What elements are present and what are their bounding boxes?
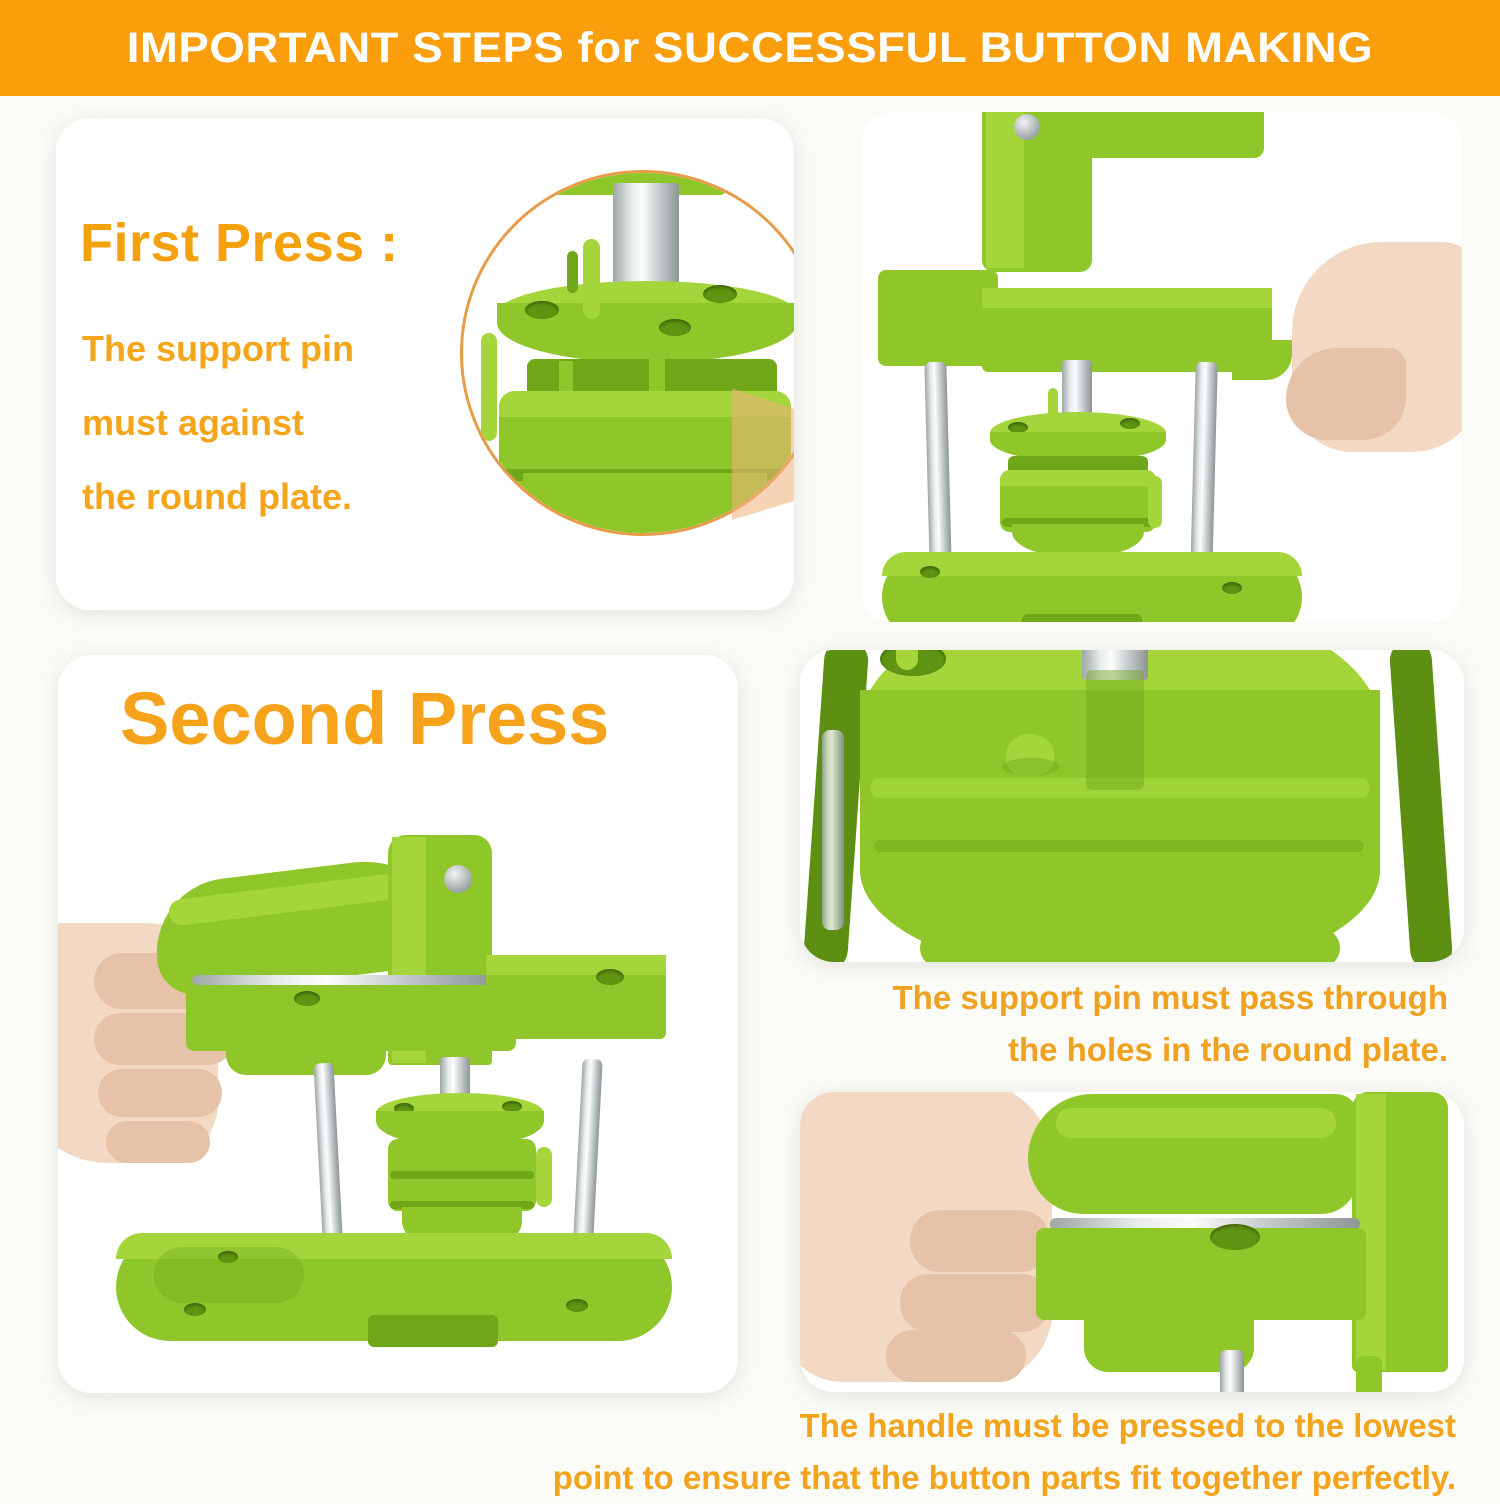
round-plate-caption: The support pin must pass through the ho… <box>768 972 1448 1076</box>
finger <box>106 1121 210 1163</box>
handle-arm-top <box>1084 112 1264 158</box>
base-hole <box>218 1251 238 1263</box>
support-pin <box>1048 388 1058 428</box>
cross-arm-left <box>878 270 998 366</box>
second-press-scene <box>58 655 738 1393</box>
finger <box>910 1210 1050 1272</box>
machine-scene <box>862 112 1462 622</box>
arm-hole <box>596 969 624 985</box>
base-hole <box>1222 582 1242 594</box>
plate-hole <box>1120 418 1140 429</box>
page-header: IMPORTANT STEPS for SUCCESSFUL BUTTON MA… <box>0 0 1500 96</box>
lever-chrome-edge <box>192 975 492 985</box>
handle-card <box>800 1092 1464 1392</box>
handle-scene <box>800 1092 1464 1392</box>
round-plate-scene <box>800 650 1464 962</box>
nub-shadow <box>1002 758 1060 776</box>
bolt-icon <box>1014 114 1040 140</box>
handle-caption: The handle must be pressed to the lowest… <box>456 1400 1456 1504</box>
bolt-icon <box>444 865 472 893</box>
handle-highlight <box>1056 1108 1336 1138</box>
arm-hole <box>294 991 320 1006</box>
die-seam <box>390 1171 534 1179</box>
second-press-card <box>58 655 738 1393</box>
page-title: IMPORTANT STEPS for SUCCESSFUL BUTTON MA… <box>127 24 1373 73</box>
finger <box>886 1330 1026 1382</box>
base-hole <box>184 1303 206 1316</box>
chrome-rod-left <box>822 730 844 930</box>
round-plate-card <box>800 650 1464 962</box>
die-latch <box>536 1147 552 1207</box>
lever-underside <box>226 1037 386 1075</box>
caption-line: The handle must be pressed to the lowest <box>456 1400 1456 1452</box>
caption-line: point to ensure that the button parts fi… <box>456 1452 1456 1504</box>
support-pin-secondary <box>567 251 578 293</box>
finger <box>98 1069 222 1117</box>
lever-arm <box>1036 1228 1366 1320</box>
cross-arm-highlight <box>486 955 666 975</box>
cross-arm-highlight <box>982 288 1272 308</box>
plate-hole <box>525 301 559 319</box>
base-slide <box>368 1315 498 1347</box>
side-rail <box>481 333 497 441</box>
finger <box>900 1274 1050 1332</box>
die-drum-top <box>1000 470 1156 486</box>
first-press-title: First Press : <box>80 212 399 274</box>
guide-rod <box>1220 1350 1244 1392</box>
arm-hole <box>1210 1224 1260 1250</box>
drum-seam <box>874 840 1364 852</box>
finger <box>1286 348 1406 440</box>
plate-hole <box>703 285 737 303</box>
second-press-title: Second Press <box>120 676 609 761</box>
first-press-body-line: the round plate. <box>82 460 482 534</box>
rod-sleeve <box>1356 1356 1382 1392</box>
plate-hole <box>659 319 691 336</box>
support-pin <box>583 239 600 319</box>
first-press-body: The support pin must against the round p… <box>82 312 482 534</box>
base-slide <box>1022 614 1142 622</box>
first-press-machine-photo <box>862 112 1462 622</box>
shaft-shadow <box>1086 670 1144 790</box>
base-hole <box>920 566 940 578</box>
die-base <box>523 473 767 533</box>
caption-line: The support pin must pass through <box>768 972 1448 1024</box>
cross-arm-tip <box>1232 340 1292 380</box>
base-hole <box>566 1299 588 1312</box>
first-press-body-line: The support pin <box>82 312 482 386</box>
guide-rod-right <box>1389 650 1454 962</box>
machine-base <box>920 928 1340 962</box>
caption-line: the holes in the round plate. <box>768 1024 1448 1076</box>
machine-base-top <box>882 552 1302 576</box>
first-press-body-line: must against <box>82 386 482 460</box>
die-latch <box>1148 476 1162 528</box>
